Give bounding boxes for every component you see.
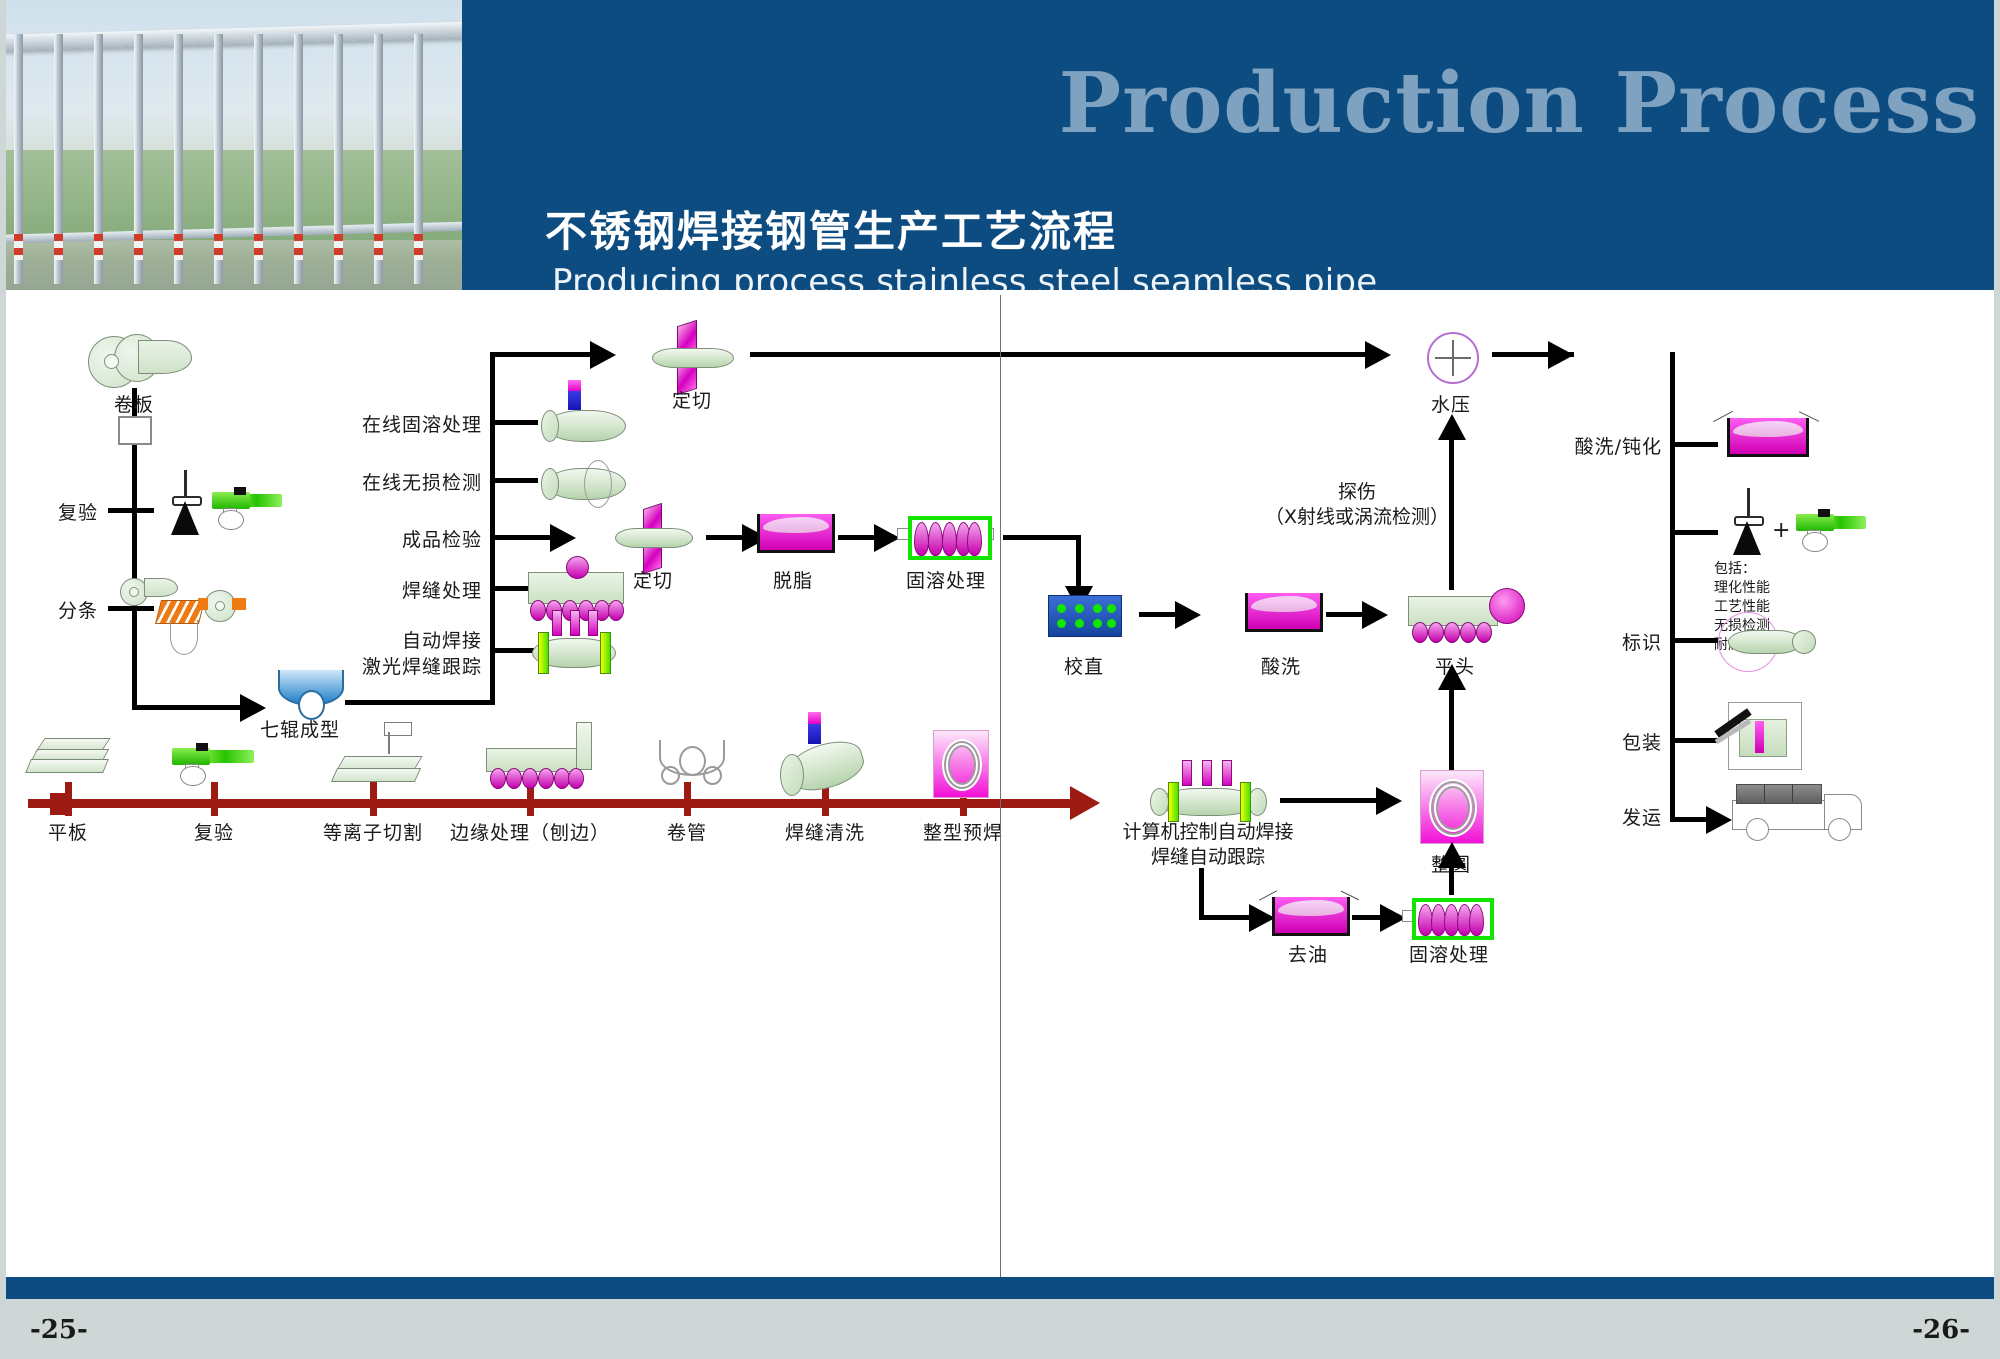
edge-planing-tool-icon — [576, 722, 592, 770]
label-marking: 标识 — [1622, 628, 1662, 655]
auto-weld-clamp-right — [1240, 782, 1251, 822]
footer-bar — [0, 1277, 2000, 1299]
facing-roller-0 — [1412, 622, 1428, 643]
weld-torch-2-inline — [588, 610, 598, 636]
straighten-to-pickling-line — [1139, 612, 1179, 617]
facing-roller-1 — [1428, 622, 1444, 643]
auto-weld-to-rounding-arrowhead — [1376, 787, 1402, 815]
label-reinspect-left: 复验 — [58, 498, 98, 525]
label-straightening: 校直 — [1064, 652, 1104, 679]
tube-cap-inline-solution — [541, 410, 559, 442]
right-edge-strip — [1994, 0, 2000, 1359]
left-spine-bottom — [132, 705, 247, 710]
label-pickling-mid: 酸洗 — [1261, 652, 1301, 679]
label-cut-mid: 定切 — [633, 566, 673, 593]
straightening-table-icon — [1048, 595, 1122, 637]
marking-icon — [1718, 610, 1848, 670]
top-long-line — [750, 352, 1370, 357]
slitting-loop-icon — [170, 620, 198, 655]
tick-pickling-passivation — [1672, 442, 1718, 447]
solution-to-rounding-vline — [1449, 865, 1454, 895]
ndt-note-line2: （X射线或涡流检测） — [1265, 505, 1449, 530]
final-inspection-arrowhead — [550, 524, 576, 552]
solution-drop-vline — [1076, 535, 1081, 590]
page-title-cn: 不锈钢焊接钢管生产工艺流程 — [545, 198, 1117, 259]
solution-to-rounding-arrowhead — [1438, 842, 1466, 868]
tick-inline-solution — [492, 420, 538, 425]
marker-pen-inline-solution — [568, 380, 581, 410]
weld-clamp-left-inline — [538, 632, 549, 674]
label-slitting: 分条 — [58, 596, 98, 623]
pre-weld-sizing-icon — [933, 730, 989, 798]
top-cut-arrowhead — [590, 341, 616, 369]
facing-to-hydro-vline — [1449, 440, 1454, 590]
weld-head-roller — [566, 556, 589, 579]
timeline-label-2: 等离子切割 — [323, 818, 423, 845]
page-number-left: -25- — [30, 1315, 88, 1345]
flat-plate-icon — [26, 738, 116, 780]
label-degrease: 脱脂 — [773, 566, 813, 593]
coil-box-marker — [118, 416, 152, 445]
tick-inline-ndt — [492, 478, 538, 483]
timeline-label-4: 卷管 — [667, 818, 707, 845]
weld-clean-tube-cap — [780, 754, 804, 796]
weld-roller-5 — [608, 600, 624, 621]
page-title-en: Production Process — [1059, 62, 1980, 145]
deoil-branch-vline — [1199, 868, 1204, 920]
timeline-tick-0 — [65, 782, 72, 816]
auto-weld-torch-0 — [1182, 760, 1192, 786]
page-divider — [1000, 295, 1001, 1280]
label-weld-treatment: 焊缝处理 — [402, 576, 482, 603]
degrease-to-solution-line — [838, 535, 878, 540]
packing-icon — [1728, 702, 1802, 770]
weld-clamp-right-inline — [600, 632, 611, 674]
edge-roller-5 — [568, 768, 584, 789]
tick-packing — [1672, 738, 1718, 743]
timeline-arrowhead — [1070, 786, 1100, 820]
deoil-tank-icon — [1272, 897, 1350, 936]
timeline-label-1: 复验 — [194, 818, 234, 845]
tick-marking — [1672, 638, 1718, 643]
label-coil-plate: 卷板 — [114, 390, 154, 417]
laser-gun-icon-right — [1796, 508, 1866, 548]
slide-page: Production Process 不锈钢焊接钢管生产工艺流程 Produci… — [0, 0, 2000, 1359]
pickling-to-facing-arrowhead — [1362, 601, 1388, 629]
auto-weld-label-line2: 焊缝自动跟踪 — [1122, 845, 1293, 870]
facing-roller-3 — [1460, 622, 1476, 643]
auto-weld-clamp-left — [1168, 782, 1179, 822]
solution-furnace-icon-mid — [908, 516, 992, 560]
hydro-to-right-arrowhead — [1548, 341, 1574, 369]
label-cut-top: 定切 — [672, 386, 712, 413]
weld-roller-0 — [530, 600, 546, 621]
label-deoil: 去油 — [1288, 940, 1328, 967]
label-solution-treatment-mid: 固溶处理 — [906, 566, 986, 593]
timeline-tick-4 — [684, 782, 691, 816]
timeline-label-6: 整型预焊 — [923, 818, 1003, 845]
degrease-tank-icon — [757, 514, 835, 553]
label-inline-solution: 在线固溶处理 — [362, 410, 482, 437]
slide-header: Production Process 不锈钢焊接钢管生产工艺流程 Produci… — [0, 0, 2000, 290]
auto-weld-tube-cap-left — [1150, 788, 1169, 816]
seven-roll-forming-icon — [276, 668, 346, 712]
reinspect-gun-icon-timeline — [172, 740, 256, 784]
deoil-branch-hline — [1199, 915, 1253, 920]
truck-icon — [1732, 780, 1860, 842]
label-inline-ndt: 在线无损检测 — [362, 468, 482, 495]
label-packing: 包装 — [1622, 728, 1662, 755]
edge-roller-1 — [506, 768, 522, 789]
timeline-label-0: 平板 — [48, 818, 88, 845]
auto-weld-label: 计算机控制自动焊接 焊缝自动跟踪 — [1122, 820, 1293, 870]
page-number-right: -26- — [1912, 1315, 1970, 1345]
label-auto-weld-inline-2: 激光焊缝跟踪 — [362, 652, 482, 679]
tube-cap-inline-ndt — [541, 468, 559, 500]
pipe-rolling-cradle-icon — [655, 738, 727, 786]
edge-roller-0 — [490, 768, 506, 789]
auto-weld-label-line1: 计算机控制自动焊接 — [1122, 820, 1293, 845]
label-hydro-test: 水压 — [1431, 390, 1471, 417]
right-spine-line — [1670, 352, 1675, 822]
weld-torch-0-inline — [552, 610, 562, 636]
ndt-ring-icon — [584, 460, 612, 508]
tick-lab-test — [1672, 530, 1718, 535]
timeline-tick-2 — [370, 782, 377, 816]
plasma-cut-plate-icon — [330, 746, 430, 786]
label-final-inspection: 成品检验 — [402, 525, 482, 552]
flask-icon-right — [1730, 488, 1766, 554]
label-pickling-passivation: 酸洗/钝化 — [1575, 432, 1662, 459]
edge-roller-2 — [522, 768, 538, 789]
final-inspection-arrow-line — [495, 535, 555, 540]
pickling-tank-icon-mid — [1245, 593, 1323, 632]
slitting-recoil-icon — [198, 588, 246, 626]
weld-clean-marker-icon — [808, 712, 821, 744]
straighten-to-pickling-arrowhead — [1175, 601, 1201, 629]
auto-weld-torch-2 — [1222, 760, 1232, 786]
facing-roller-2 — [1444, 622, 1460, 643]
plus-sign-right: + — [1772, 518, 1791, 543]
weld-torch-1-inline — [570, 610, 580, 636]
inline-spine-bottom — [345, 700, 495, 705]
facing-disc-icon — [1489, 588, 1525, 624]
flask-icon-left — [168, 470, 202, 532]
bottom-timeline-line — [28, 799, 1076, 808]
auto-weld-torch-1 — [1202, 760, 1212, 786]
tick-reinspect — [108, 508, 154, 513]
laser-gun-icon-left — [212, 486, 282, 526]
coil-plate-icon — [88, 332, 188, 387]
edge-roller-3 — [538, 768, 554, 789]
rounding-to-facing-arrowhead — [1438, 664, 1466, 690]
solution-drop-hline — [1003, 535, 1081, 540]
ndt-note: 探伤 （X射线或涡流检测） — [1265, 480, 1449, 530]
facing-to-hydro-arrowhead — [1438, 414, 1466, 440]
hydro-test-icon — [1427, 332, 1479, 384]
label-seven-roll-forming: 七辊成型 — [260, 715, 340, 742]
shipping-arrowhead — [1706, 806, 1732, 834]
timeline-tick-1 — [211, 782, 218, 816]
inline-spine-top — [490, 352, 595, 357]
tube-icon-cut-top — [652, 348, 734, 368]
cut-to-degrease-line — [706, 535, 746, 540]
label-auto-weld-inline-1: 自动焊接 — [402, 626, 482, 653]
left-edge-strip — [0, 0, 6, 1359]
plasma-cut-head-icon — [378, 722, 412, 752]
timeline-label-5: 焊缝清洗 — [785, 818, 865, 845]
pickling-to-facing-line — [1326, 612, 1366, 617]
label-shipping: 发运 — [1622, 803, 1662, 830]
timeline-label-3: 边缘处理（刨边） — [450, 818, 610, 845]
top-long-arrowhead — [1365, 341, 1391, 369]
ndt-note-line1: 探伤 — [1265, 480, 1449, 505]
inspection-note-title: 包括： — [1714, 560, 1798, 579]
rounding-icon — [1420, 770, 1484, 844]
label-solution-treatment-bottom: 固溶处理 — [1409, 940, 1489, 967]
passivation-tank-icon — [1727, 418, 1809, 457]
footer-plate — [0, 1299, 2000, 1359]
facing-roller-4 — [1476, 622, 1492, 643]
tube-icon-cut-mid — [615, 528, 693, 548]
inspection-note-item-0: 理化性能 — [1714, 579, 1798, 598]
solution-furnace-icon-bottom — [1412, 898, 1494, 940]
auto-weld-to-rounding-line — [1280, 798, 1380, 803]
